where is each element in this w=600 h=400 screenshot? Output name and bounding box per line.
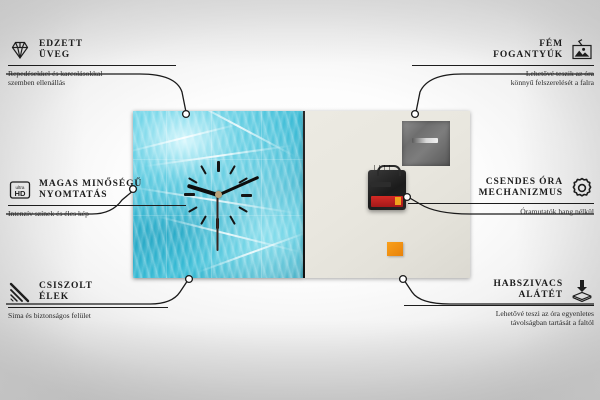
polished-edges-icon: [8, 280, 32, 304]
feature-title: HABSZIVACSALÁTÉT: [493, 279, 563, 302]
foam-pad: [387, 242, 403, 256]
divider: [408, 203, 594, 204]
feature-subtitle: Lehetővé teszi az óra egyenletestávolság…: [404, 309, 594, 328]
feature-subtitle: Intenzív színek és éles kép: [8, 209, 186, 218]
feature-title: FÉMFOGANTYÚK: [493, 39, 563, 62]
ultra-hd-icon: ultra HD: [8, 178, 32, 202]
feature-subtitle: Óramutatók hang nélkül: [408, 207, 594, 216]
feature-title: CSENDES ÓRAMECHANIZMUS: [479, 177, 563, 200]
battery: [371, 196, 403, 207]
feature-subtitle: Repedésekkel és karcolásokkalszemben ell…: [8, 69, 176, 88]
feature-title: MAGAS MINŐSÉGŰNYOMTATÁS: [39, 179, 142, 202]
divider: [404, 305, 594, 306]
svg-text:HD: HD: [15, 189, 26, 198]
feature-metal-handles[interactable]: FÉMFOGANTYÚK Lehetővé teszik az órakönny…: [412, 38, 594, 88]
feature-high-quality-print[interactable]: ultra HD MAGAS MINŐSÉGŰNYOMTATÁS Intenzí…: [8, 178, 186, 218]
divider: [8, 307, 168, 308]
divider: [8, 205, 186, 206]
divider: [8, 65, 176, 66]
infographic-canvas: EDZETTÜVEG Repedésekkel és karcolásokkal…: [0, 0, 600, 400]
diamond-icon: [8, 38, 32, 62]
metal-hanger-plate: [402, 121, 450, 166]
feature-title: EDZETTÜVEG: [39, 39, 83, 62]
divider: [412, 65, 594, 66]
feature-foam-backing[interactable]: HABSZIVACSALÁTÉT Lehetővé teszi az óra e…: [404, 278, 594, 328]
picture-hanger-icon: [570, 38, 594, 62]
feature-subtitle: Sima és biztonságos felület: [8, 311, 168, 320]
gear-icon: [570, 176, 594, 200]
quartz-mechanism: [368, 170, 406, 210]
feature-title: CSISZOLTÉLEK: [39, 281, 93, 304]
clock-center-pin: [215, 191, 222, 198]
feature-silent-mechanism[interactable]: CSENDES ÓRAMECHANIZMUS Óramutatók hang n…: [408, 176, 594, 216]
feature-subtitle: Lehetővé teszik az órakönnyű felszerelés…: [412, 69, 594, 88]
feature-tempered-glass[interactable]: EDZETTÜVEG Repedésekkel és karcolásokkal…: [8, 38, 176, 88]
foam-pad-icon: [570, 278, 594, 302]
feature-polished-edges[interactable]: CSISZOLTÉLEK Sima és biztonságos felület: [8, 280, 168, 320]
